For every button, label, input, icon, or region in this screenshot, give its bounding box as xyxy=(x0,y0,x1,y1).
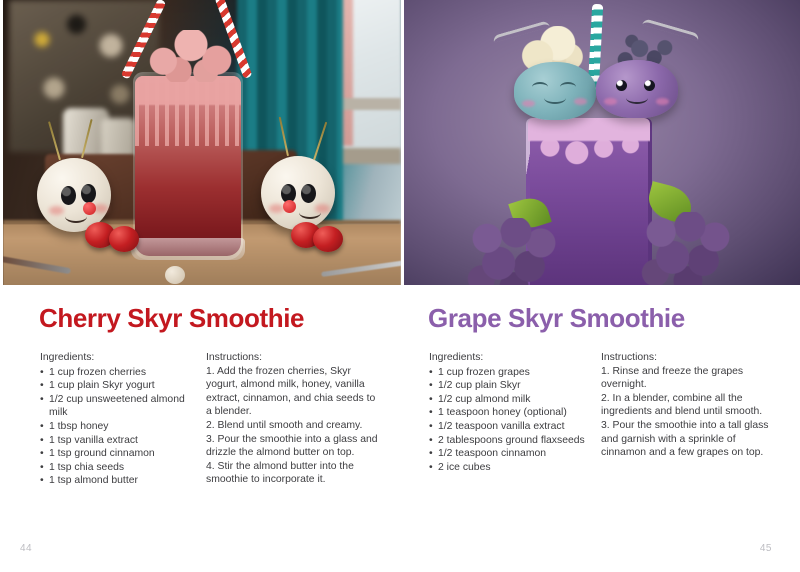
cherry-scene-background xyxy=(3,0,401,285)
list-item: 1/2 teaspoon cinnamon xyxy=(429,447,601,461)
grape-scene-background xyxy=(404,0,800,285)
page-number-right: 45 xyxy=(760,543,772,554)
grape-smoothie-drips xyxy=(528,118,650,174)
list-item: 1 cup plain Skyr yogurt xyxy=(40,379,206,393)
eye-right xyxy=(644,80,655,91)
blush-right xyxy=(656,98,669,105)
eye-left xyxy=(532,82,548,92)
recipe-book-spread: Cherry Skyr Smoothie Ingredients: 1 cup … xyxy=(0,0,800,572)
mouth xyxy=(544,92,566,104)
instruction-step: 3. Pour the smoothie into a tall glass a… xyxy=(601,419,781,460)
mouth xyxy=(626,92,648,104)
cherry-fruit-d xyxy=(313,226,343,252)
list-item: 2 tablespoons ground flaxseeds xyxy=(429,434,601,448)
list-item: 1 cup frozen cherries xyxy=(40,366,206,380)
instructions-heading: Instructions: xyxy=(601,351,781,365)
cherry-character-right xyxy=(261,156,335,230)
blush-left xyxy=(49,206,64,215)
cherry-fruit-b xyxy=(109,226,139,252)
instruction-step: 2. Blend until smooth and creamy. xyxy=(206,419,381,433)
ingredients-list: 1 cup frozen cherries 1 cup plain Skyr y… xyxy=(40,366,206,488)
list-item: 1 tsp ground cinnamon xyxy=(40,447,206,461)
mouth xyxy=(299,206,321,219)
grape-smoothie-photo xyxy=(404,0,800,285)
recipe-columns-right: Ingredients: 1 cup frozen grapes 1/2 cup… xyxy=(404,351,800,474)
purple-blob-character xyxy=(596,60,678,118)
blush-left xyxy=(522,100,535,107)
cherry-character-left xyxy=(37,158,111,232)
list-item: 1 tbsp honey xyxy=(40,420,206,434)
grape-bunch-right xyxy=(640,212,736,285)
ingredients-heading: Ingredients: xyxy=(40,351,206,365)
ingredients-list: 1 cup frozen grapes 1/2 cup plain Skyr 1… xyxy=(429,366,601,475)
page-right: Grape Skyr Smoothie Ingredients: 1 cup f… xyxy=(404,0,800,572)
blush-left xyxy=(269,204,284,213)
page-number-left: 44 xyxy=(20,543,32,554)
blush-left xyxy=(604,98,617,105)
instructions-heading: Instructions: xyxy=(206,351,381,365)
eye-right xyxy=(560,82,576,92)
instruction-step: 3. Pour the smoothie into a glass and dr… xyxy=(206,433,381,460)
eye-left xyxy=(61,186,76,205)
ingredients-column-right: Ingredients: 1 cup frozen grapes 1/2 cup… xyxy=(429,351,601,474)
grape-bunch-left xyxy=(466,218,562,285)
list-item: 1 tsp vanilla extract xyxy=(40,434,206,448)
nose xyxy=(283,200,296,213)
list-item: 1/2 cup unsweetened almond milk xyxy=(40,393,206,420)
list-item: 2 ice cubes xyxy=(429,461,601,475)
page-title-cherry: Cherry Skyr Smoothie xyxy=(3,305,404,331)
mouth xyxy=(65,210,87,223)
smoothie-drips xyxy=(135,76,241,146)
ingredients-column-left: Ingredients: 1 cup frozen cherries 1 cup… xyxy=(40,351,206,488)
instruction-step: 2. In a blender, combine all the ingredi… xyxy=(601,392,781,419)
list-item: 1 cup frozen grapes xyxy=(429,366,601,380)
instruction-step: 1. Rinse and freeze the grapes overnight… xyxy=(601,365,781,392)
eye-left xyxy=(616,80,627,91)
list-item: 1 teaspoon honey (optional) xyxy=(429,406,601,420)
whipped-foam-top xyxy=(145,30,237,82)
blush-right xyxy=(574,98,587,105)
list-item: 1/2 cup almond milk xyxy=(429,393,601,407)
instructions-column-left: Instructions: 1. Add the frozen cherries… xyxy=(206,351,381,488)
list-item: 1/2 cup plain Skyr xyxy=(429,379,601,393)
page-title-grape: Grape Skyr Smoothie xyxy=(404,305,800,331)
glass-base xyxy=(131,238,245,260)
instruction-step: 1. Add the frozen cherries, Skyr yogurt,… xyxy=(206,365,381,419)
cherry-smoothie-photo xyxy=(3,0,401,285)
eye-right xyxy=(301,184,316,203)
eye-right xyxy=(81,184,96,203)
list-item: 1 tsp almond butter xyxy=(40,474,206,488)
list-item: 1 tsp chia seeds xyxy=(40,461,206,475)
mini-cherry-foreground xyxy=(165,266,185,284)
ingredients-heading: Ingredients: xyxy=(429,351,601,365)
recipe-columns-left: Ingredients: 1 cup frozen cherries 1 cup… xyxy=(3,351,404,488)
teal-blob-character xyxy=(514,62,596,120)
instruction-step: 4. Stir the almond butter into the smoot… xyxy=(206,460,381,487)
instructions-column-right: Instructions: 1. Rinse and freeze the gr… xyxy=(601,351,781,474)
page-left: Cherry Skyr Smoothie Ingredients: 1 cup … xyxy=(0,0,404,572)
list-item: 1/2 teaspoon vanilla extract xyxy=(429,420,601,434)
window-frame xyxy=(335,98,401,110)
